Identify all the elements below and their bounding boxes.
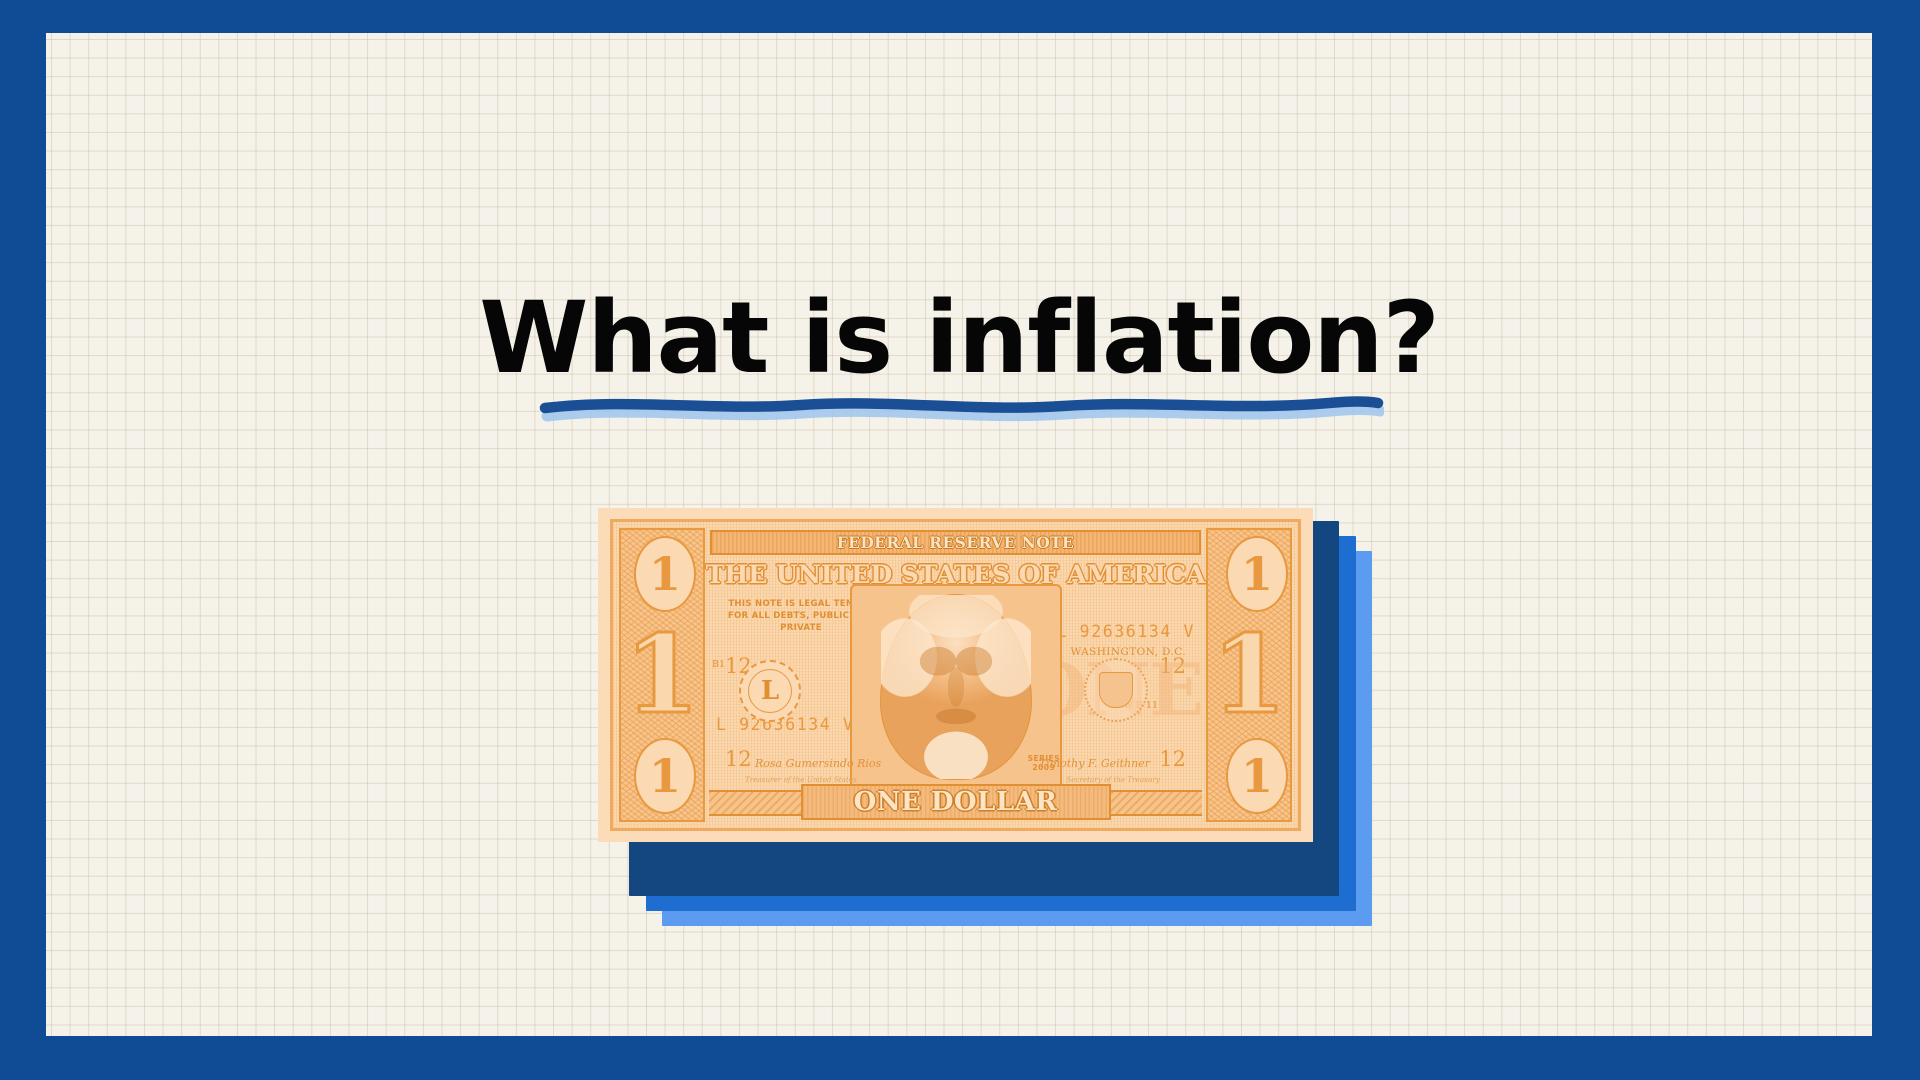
corner-oval-bottom-left: 1 [634, 738, 696, 814]
treasurer-signature-title: Treasurer of the United States [745, 775, 857, 784]
district-letter-left: B1 [712, 660, 725, 670]
district-number-bottom-right: 12 [1159, 749, 1186, 770]
dollar-bill-illustration: 1 1 1 1 1 1 [598, 508, 1358, 928]
serial-number-top-right: L 92636134 V [1057, 622, 1195, 641]
federal-reserve-note-banner: FEDERAL RESERVE NOTE [710, 530, 1201, 555]
corner-oval-top-left: 1 [634, 536, 696, 612]
corner-oval-top-right: 1 [1226, 536, 1288, 612]
treasury-shield-icon [1099, 672, 1133, 708]
corner-oval-bottom-right: 1 [1226, 738, 1288, 814]
banknote-face: 1 1 1 1 1 1 [610, 519, 1301, 831]
federal-reserve-seal: L [739, 660, 801, 722]
series-year: 2009 [1028, 763, 1060, 772]
one-dollar-text: ONE DOLLAR [854, 789, 1058, 815]
federal-reserve-seal-letter: L [761, 678, 779, 704]
washington-portrait [880, 594, 1032, 780]
district-number-bottom-left: 12 [725, 749, 752, 770]
federal-reserve-note-text: FEDERAL RESERVE NOTE [837, 533, 1075, 552]
treasurer-signature: Rosa Gumersindo Rios [755, 757, 881, 770]
secretary-signature-title: Secretary of the Treasury [1066, 775, 1160, 784]
right-denomination-numeral: 1 [1211, 621, 1286, 729]
slide-canvas: What is inflation? 1 1 [0, 0, 1920, 1080]
page-title: What is inflation? [46, 289, 1872, 388]
treasury-seal [1084, 658, 1148, 722]
slide-content-panel: What is inflation? 1 1 [46, 33, 1872, 1036]
one-dollar-banknote: 1 1 1 1 1 1 [598, 508, 1313, 842]
oval-numeral: 1 [1241, 551, 1273, 597]
title-underline-squiggle [539, 386, 1384, 430]
one-dollar-banner: ONE DOLLAR [801, 784, 1111, 820]
oval-numeral: 1 [1241, 753, 1273, 799]
series-block: SERIES 2009 [1028, 754, 1060, 772]
portrait-face-engraving [881, 595, 1031, 779]
series-label: SERIES [1028, 754, 1060, 763]
left-denomination-numeral: 1 [624, 621, 699, 729]
federal-reserve-seal-ring: L [748, 669, 792, 713]
oval-numeral: 1 [649, 753, 681, 799]
oval-numeral: 1 [649, 551, 681, 597]
